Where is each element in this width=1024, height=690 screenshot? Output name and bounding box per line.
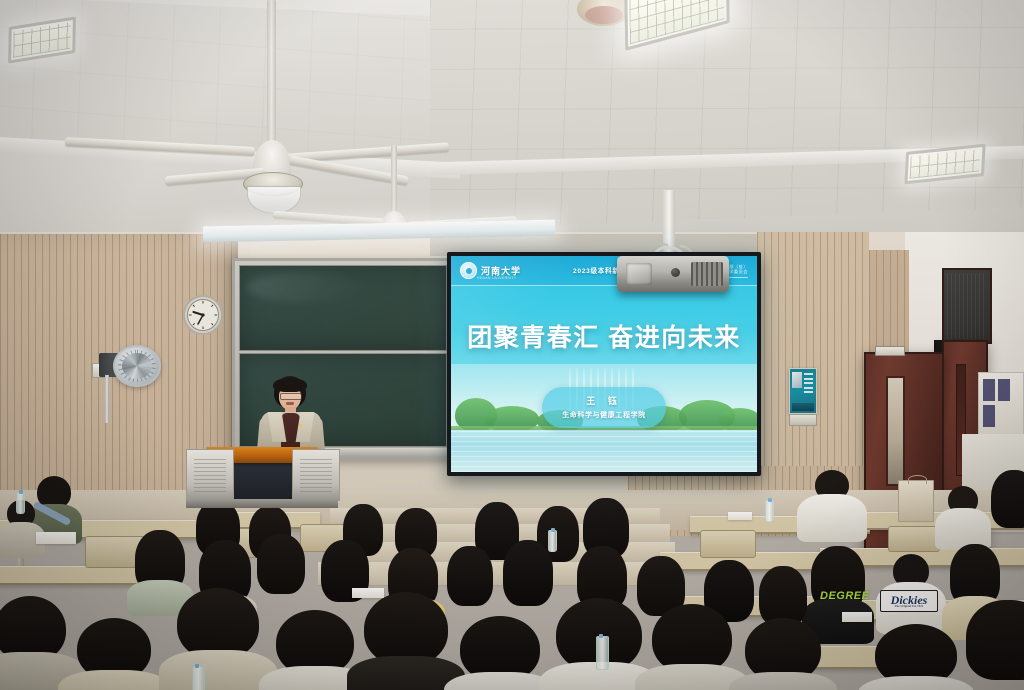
poster-footer xyxy=(792,403,814,411)
door-transom-window xyxy=(942,268,992,344)
audience-person xyxy=(166,588,270,690)
paper-bag xyxy=(898,480,934,522)
blackboard-sheen xyxy=(246,272,366,302)
podium-base xyxy=(186,499,338,508)
door-glass-lite xyxy=(886,376,905,486)
university-seal-icon xyxy=(460,262,477,279)
shirt-brand-tagline: The Original Est.1922 xyxy=(891,606,928,609)
audience-person xyxy=(938,486,988,542)
seat-back xyxy=(888,526,940,552)
shirt-brand-patch: Dickies The Original Est.1922 xyxy=(880,590,938,612)
fan-downrod xyxy=(267,0,276,150)
audience-person xyxy=(960,600,1024,690)
wall-plaque xyxy=(789,414,817,426)
audience-person xyxy=(642,604,742,690)
presenter-fringe xyxy=(273,378,307,392)
student-desk-row xyxy=(0,566,138,585)
shirt-text-degree: DEGREE xyxy=(820,590,869,602)
paper-sheet xyxy=(842,612,872,622)
paper-sheet xyxy=(36,532,76,544)
projector-vent xyxy=(691,262,723,286)
door-sign-plate xyxy=(875,346,905,356)
university-name-english: HENAN UNIVERSITY xyxy=(477,276,517,280)
presenter-badge-pin xyxy=(299,424,302,427)
audience-person xyxy=(450,616,550,690)
poster-text-lines xyxy=(804,373,813,396)
audience-person xyxy=(988,470,1024,532)
right-wall-cabinet xyxy=(978,372,1024,436)
audience-person xyxy=(66,618,162,690)
wall-fan-icon xyxy=(113,345,161,387)
clock-icon xyxy=(182,294,224,336)
podium-cabinet-right xyxy=(292,449,340,501)
water-bottle xyxy=(16,492,25,514)
slide-speaker-name: 王 钰 xyxy=(542,394,666,407)
paper-sheet xyxy=(352,588,384,598)
water-bottle xyxy=(765,500,774,522)
glasses-icon xyxy=(280,393,302,400)
blackboard-panel-upper xyxy=(239,265,447,351)
podium-cabinet-left xyxy=(186,449,234,501)
audience-person xyxy=(800,470,864,536)
presenter-mouth xyxy=(286,402,294,405)
fan-downrod xyxy=(391,145,397,217)
wall-poster xyxy=(789,368,817,414)
projector-lens-icon xyxy=(626,263,652,285)
slide-lake xyxy=(451,430,757,472)
audience-person xyxy=(736,618,830,690)
ceiling-projector xyxy=(617,256,729,292)
poster-image xyxy=(792,372,802,388)
paper-sheet xyxy=(728,512,752,520)
lectern-podium xyxy=(188,447,338,509)
seat-back xyxy=(700,530,756,558)
slide-speaker-card: 王 钰 生命科学与健康工程学院 xyxy=(542,387,666,428)
audience-person xyxy=(354,592,458,690)
slide-title: 团聚青春汇 奋进向未来 xyxy=(451,318,757,354)
water-bottle xyxy=(596,636,609,670)
audience-person xyxy=(866,624,966,690)
wall-fan-blades xyxy=(122,353,152,379)
water-bottle xyxy=(192,666,205,690)
slide-speaker-department: 生命科学与健康工程学院 xyxy=(542,410,666,420)
audience-person xyxy=(0,596,76,690)
wall-fan-pole xyxy=(105,375,109,423)
lecture-hall-photo: 河南大学 HENAN UNIVERSITY 2023级本科新生入学教育 河南大学… xyxy=(0,0,1024,690)
projector-knob xyxy=(671,268,680,277)
